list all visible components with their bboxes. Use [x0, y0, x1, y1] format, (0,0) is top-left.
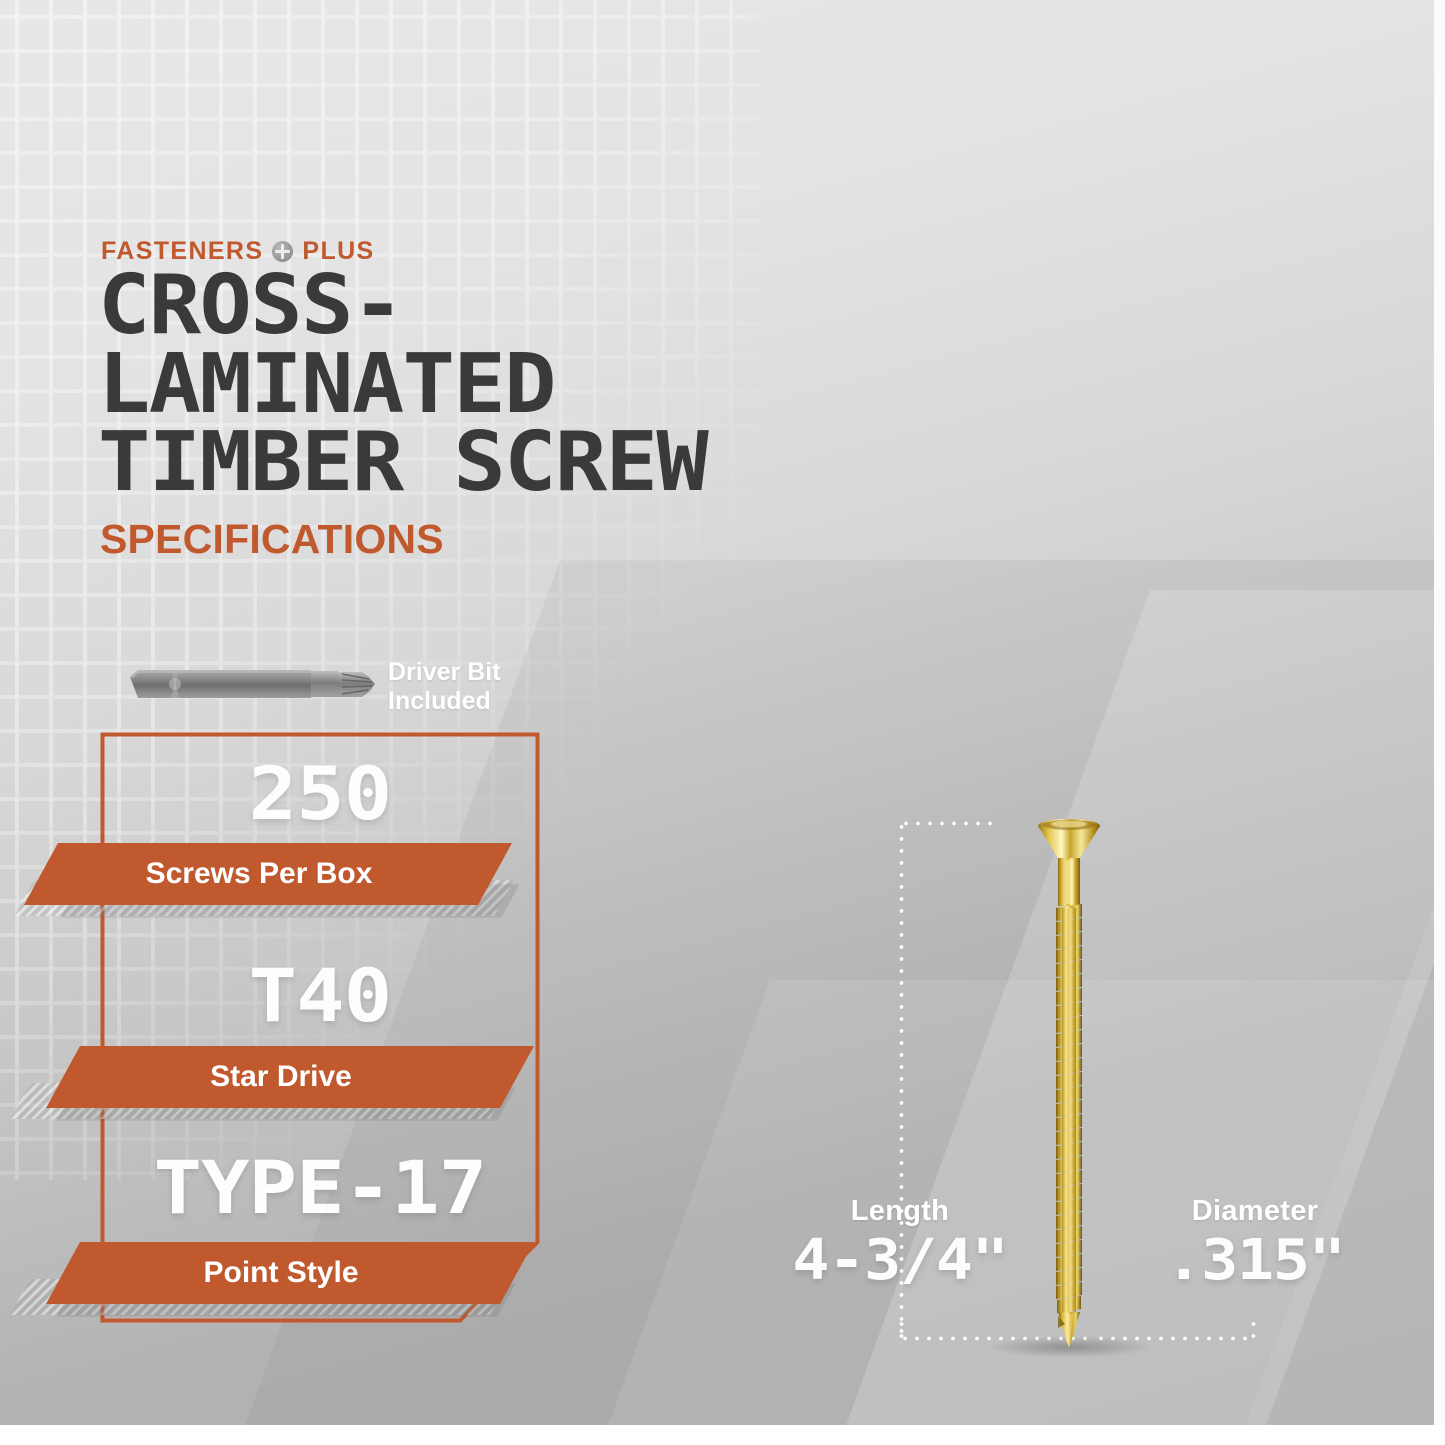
page-subtitle: SPECIFICATIONS [100, 516, 444, 563]
spec-label-0: Screws Per Box [146, 857, 391, 891]
spec-value-0: 250 [78, 758, 562, 831]
title-line-1: CROSS- [98, 267, 707, 346]
title-line-3: TIMBER SCREW [98, 424, 707, 503]
diameter-measurement: Diameter .315" [1125, 1195, 1385, 1291]
length-value: 4-3/4" [757, 1232, 1043, 1291]
dimension-tick-right [1251, 1318, 1256, 1340]
dimension-line-top [900, 821, 1000, 826]
title-line-2: LAMINATED [98, 346, 707, 425]
driver-bit-label-line-2: Included [388, 687, 501, 716]
right-margin [1434, 0, 1445, 1445]
spec-value-1: T40 [78, 960, 562, 1033]
spec-label-1: Star Drive [210, 1060, 370, 1094]
spec-label-2: Point Style [203, 1256, 376, 1290]
spec-banner-2: Point Style [46, 1242, 534, 1304]
spec-banner-1: Star Drive [46, 1046, 534, 1108]
diameter-label: Diameter [1125, 1195, 1385, 1228]
diameter-value: .315" [1112, 1232, 1398, 1291]
driver-bit-label-line-1: Driver Bit [388, 658, 501, 687]
torx-driver-bit-icon [126, 665, 381, 705]
page-title: CROSS- LAMINATED TIMBER SCREW [98, 267, 707, 503]
bottom-margin [0, 1425, 1445, 1445]
dimension-tick-left [899, 1318, 904, 1340]
length-label: Length [770, 1195, 1030, 1228]
length-measurement: Length 4-3/4" [770, 1195, 1030, 1291]
infographic-canvas: FASTENERS PLUS CROSS- LAMINATED TIMBER S… [0, 0, 1445, 1445]
spec-banner-0: Screws Per Box [24, 843, 512, 905]
driver-bit-label: Driver Bit Included [388, 658, 501, 716]
spec-value-2: TYPE-17 [78, 1152, 562, 1225]
